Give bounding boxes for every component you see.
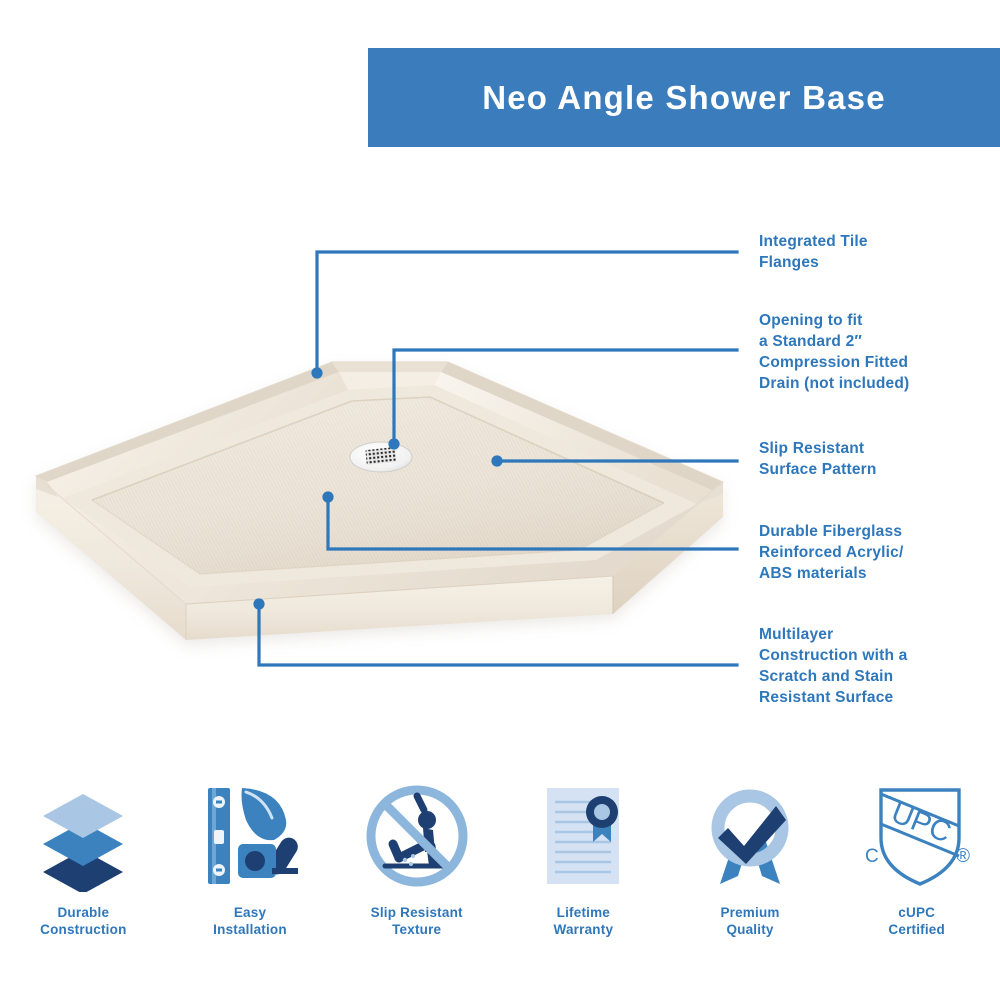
leader-integrated-tile-flanges [317, 252, 737, 373]
feature-cupc-certified: UPC C ® cUPC Certified [833, 776, 1000, 976]
callout-line: Slip Resistant [759, 438, 877, 459]
slip-resistant-floor [92, 397, 664, 574]
feature-label-line: Installation [213, 921, 287, 938]
tools-icon [194, 776, 306, 896]
feature-label: Easy Installation [213, 904, 287, 938]
feature-label-line: Slip Resistant [371, 904, 463, 921]
base-wall-front [186, 576, 613, 640]
callout-line: Multilayer [759, 624, 907, 645]
feature-label-line: Lifetime [554, 904, 614, 921]
infographic-canvas: Neo Angle Shower Base [0, 0, 1000, 1000]
feature-label-line: Durable [40, 904, 126, 921]
callout-line: Scratch and Stain [759, 666, 907, 687]
flange-ridge-right-top [441, 362, 723, 490]
leader-dot-drain [388, 438, 399, 449]
callout-line: Surface Pattern [759, 459, 877, 480]
callout-line: Integrated Tile [759, 231, 868, 252]
leader-durable-materials [328, 497, 737, 549]
feature-easy-installation: Easy Installation [167, 776, 334, 976]
feature-label-line: Easy [213, 904, 287, 921]
feature-label-line: Warranty [554, 921, 614, 938]
feature-label-line: Quality [720, 921, 779, 938]
leader-multilayer-construction [259, 604, 737, 665]
feature-label-line: cUPC [888, 904, 945, 921]
callout-line: Drain (not included) [759, 373, 909, 394]
leader-dot-materials [322, 491, 333, 502]
upc-shield-icon: UPC C ® [855, 776, 979, 896]
feature-label-line: Texture [371, 921, 463, 938]
leader-drain-opening [394, 350, 737, 444]
leader-dot-multilayer [253, 598, 264, 609]
feature-strip: Durable Construction [0, 776, 1000, 976]
title-banner: Neo Angle Shower Base [368, 48, 1000, 147]
feature-label: Lifetime Warranty [554, 904, 614, 938]
base-wall-left [36, 476, 186, 640]
callout-slip-resistant-surface: Slip Resistant Surface Pattern [759, 438, 877, 480]
page-title: Neo Angle Shower Base [482, 79, 886, 117]
callout-line: Construction with a [759, 645, 907, 666]
callout-line: Reinforced Acrylic/ [759, 542, 904, 563]
flange-ridge-left-top [36, 362, 339, 482]
callout-line: Durable Fiberglass [759, 521, 904, 542]
feature-label: Durable Construction [40, 904, 126, 938]
upc-registered-mark: ® [956, 846, 970, 867]
feature-durable-construction: Durable Construction [0, 776, 167, 976]
callout-integrated-tile-flanges: Integrated Tile Flanges [759, 231, 868, 273]
callout-line: Opening to fit [759, 310, 909, 331]
feature-label: Premium Quality [720, 904, 779, 938]
base-top-surface [36, 362, 723, 604]
feature-slip-resistant: Slip Resistant Texture [333, 776, 500, 976]
callout-line: ABS materials [759, 563, 904, 584]
upc-prefix-text: C [865, 846, 879, 867]
callout-line: Flanges [759, 252, 868, 273]
leader-dot-flanges [311, 367, 322, 378]
flange-face-left [47, 372, 348, 498]
callout-drain-opening: Opening to fit a Standard 2″ Compression… [759, 310, 909, 394]
feature-label: cUPC Certified [888, 904, 945, 938]
flange-face-right [434, 372, 712, 504]
feature-label: Slip Resistant Texture [371, 904, 463, 938]
no-slip-icon [361, 776, 473, 896]
callout-line: a Standard 2″ [759, 331, 909, 352]
layers-icon [27, 776, 139, 896]
basin-ledge [63, 385, 697, 587]
callout-line: Resistant Surface [759, 687, 907, 708]
feature-lifetime-warranty: Lifetime Warranty [500, 776, 667, 976]
callout-durable-materials: Durable Fiberglass Reinforced Acrylic/ A… [759, 521, 904, 584]
base-wall-right [613, 482, 723, 614]
drain-opening [350, 442, 412, 472]
feature-premium-quality: Premium Quality [667, 776, 834, 976]
leader-dot-surface [491, 455, 502, 466]
feature-label-line: Construction [40, 921, 126, 938]
certificate-icon [527, 776, 639, 896]
check-rosette-icon [694, 776, 806, 896]
callout-line: Compression Fitted [759, 352, 909, 373]
feature-label-line: Certified [888, 921, 945, 938]
callout-multilayer-construction: Multilayer Construction with a Scratch a… [759, 624, 907, 708]
feature-label-line: Premium [720, 904, 779, 921]
